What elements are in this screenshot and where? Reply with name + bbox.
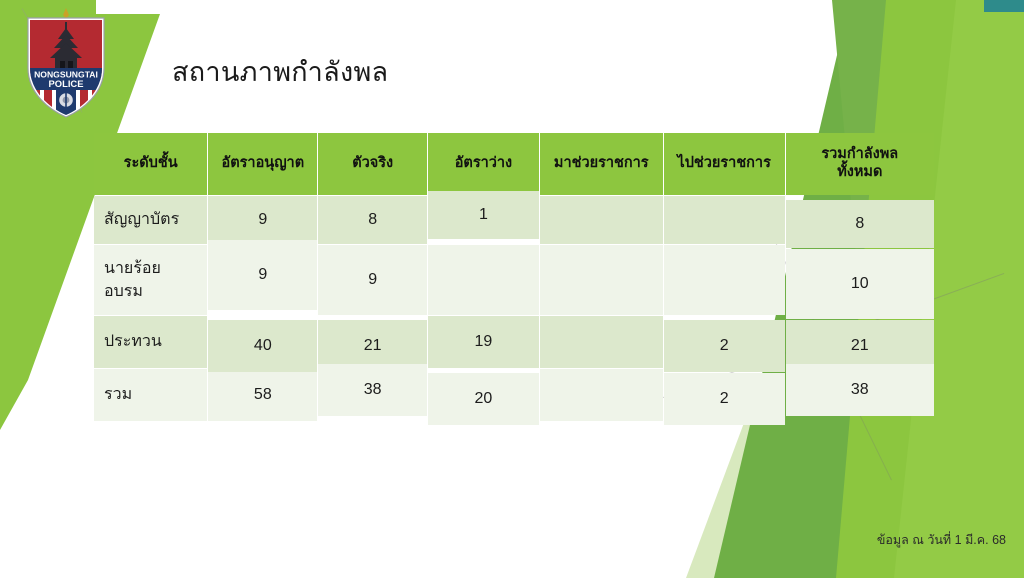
table-row: นายร้อย อบรม 9 9 10: [94, 245, 934, 315]
cell-incoming: [540, 245, 663, 315]
nongsungtai-police-badge-logo: NONGSUNGTAI POLICE: [24, 6, 108, 118]
cell-vacant: 20: [428, 373, 539, 425]
column-header-outgoing: ไปช่วยราชการ: [664, 133, 785, 195]
cell-total: 38: [786, 364, 934, 416]
slide-canvas: NONGSUNGTAI POLICE สถานภาพกำลังพล: [0, 0, 1024, 578]
cell-vacant: [428, 245, 539, 315]
cell-total: 8: [786, 200, 934, 248]
staffing-table: ระดับชั้น อัตราอนุญาต ตัวจริง อัตราว่าง …: [93, 132, 935, 422]
column-header-vacant: อัตราว่าง: [428, 133, 539, 195]
badge-line2-text: POLICE: [49, 78, 84, 89]
cell-outgoing: [664, 245, 785, 315]
data-as-of-note: ข้อมูล ณ วันที่ 1 มี.ค. 68: [877, 530, 1006, 550]
column-header-rank: ระดับชั้น: [94, 133, 207, 195]
cell-outgoing: 2: [664, 320, 785, 372]
cell-rank-label: สัญญาบัตร: [94, 196, 207, 244]
cell-authorized: 9: [208, 196, 317, 244]
column-header-actual: ตัวจริง: [318, 133, 427, 195]
column-header-total-line2: ทั้งหมด: [837, 164, 882, 180]
cell-incoming: [540, 196, 663, 244]
cell-actual: 8: [318, 196, 427, 244]
cell-rank-label: นายร้อย อบรม: [94, 245, 207, 315]
cell-rank-label: ประทวน: [94, 316, 207, 368]
column-header-authorized: อัตราอนุญาต: [208, 133, 317, 195]
column-header-total-line1: รวมกำลังพล: [821, 146, 898, 162]
cell-actual: 9: [318, 245, 427, 315]
cell-rank-label: รวม: [94, 369, 207, 421]
page-title: สถานภาพกำลังพล: [172, 50, 388, 93]
cell-actual: 38: [318, 364, 427, 416]
table-row: สัญญาบัตร 9 8 1 8: [94, 196, 934, 244]
cell-outgoing: [664, 196, 785, 244]
table-header-row: ระดับชั้น อัตราอนุญาต ตัวจริง อัตราว่าง …: [94, 133, 934, 195]
cell-incoming: [540, 369, 663, 421]
cell-total: 10: [786, 249, 934, 319]
cell-incoming: [540, 316, 663, 368]
cell-rank-label-line1: นายร้อย: [104, 260, 161, 277]
cell-authorized: 40: [208, 320, 317, 372]
cell-vacant: 19: [428, 316, 539, 368]
cell-vacant: 1: [428, 191, 539, 239]
column-header-total: รวมกำลังพล ทั้งหมด: [786, 133, 934, 195]
column-header-incoming: มาช่วยราชการ: [540, 133, 663, 195]
badge-finial-icon: [63, 8, 69, 19]
cell-authorized: 9: [208, 240, 317, 310]
staffing-table-container: ระดับชั้น อัตราอนุญาต ตัวจริง อัตราว่าง …: [93, 132, 935, 422]
cell-outgoing: 2: [664, 373, 785, 425]
cell-authorized: 58: [208, 369, 317, 421]
decoration-teal-accent: [984, 0, 1024, 12]
table-row: ประทวน 40 21 19 2 21: [94, 316, 934, 368]
cell-rank-label-line2: อบรม: [104, 283, 143, 300]
table-row: รวม 58 38 20 2 38: [94, 369, 934, 421]
